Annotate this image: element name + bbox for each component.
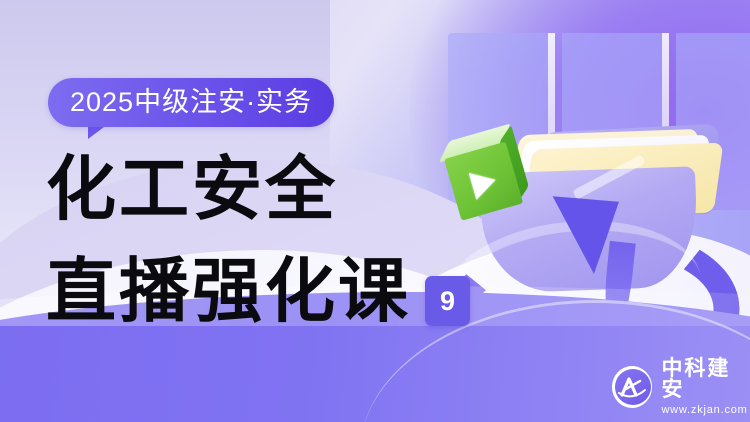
headline-line-2-text: 直播强化课 [46,254,411,331]
brand-logo-text: 中科建安 www.zkjan.com [661,358,750,416]
headline-line-2-row: 直播强化课 9 [46,254,470,332]
exam-category-label: 2025中级注安·实务 [70,89,312,116]
headline-line-1-text: 化工安全 [46,152,338,229]
episode-number-badge: 9 [425,276,470,326]
brand-name: 中科建安 [661,358,750,400]
course-poster: 2025中级注安·实务 化工安全 直播强化课 9 中科建安 [0,0,750,422]
zkjan-logo-icon [612,366,652,408]
brand-logo: 中科建安 www.zkjan.com [612,358,750,416]
logo-monogram-icon [615,370,649,404]
headline-line-2: 直播强化课 [46,254,411,332]
episode-number-label: 9 [440,288,455,315]
headline-line-1: 化工安全 [46,152,470,230]
poster-headline: 化工安全 直播强化课 9 [46,152,470,332]
brand-url: www.zkjan.com [661,405,750,416]
exam-category-badge: 2025中级注安·实务 [48,78,334,127]
